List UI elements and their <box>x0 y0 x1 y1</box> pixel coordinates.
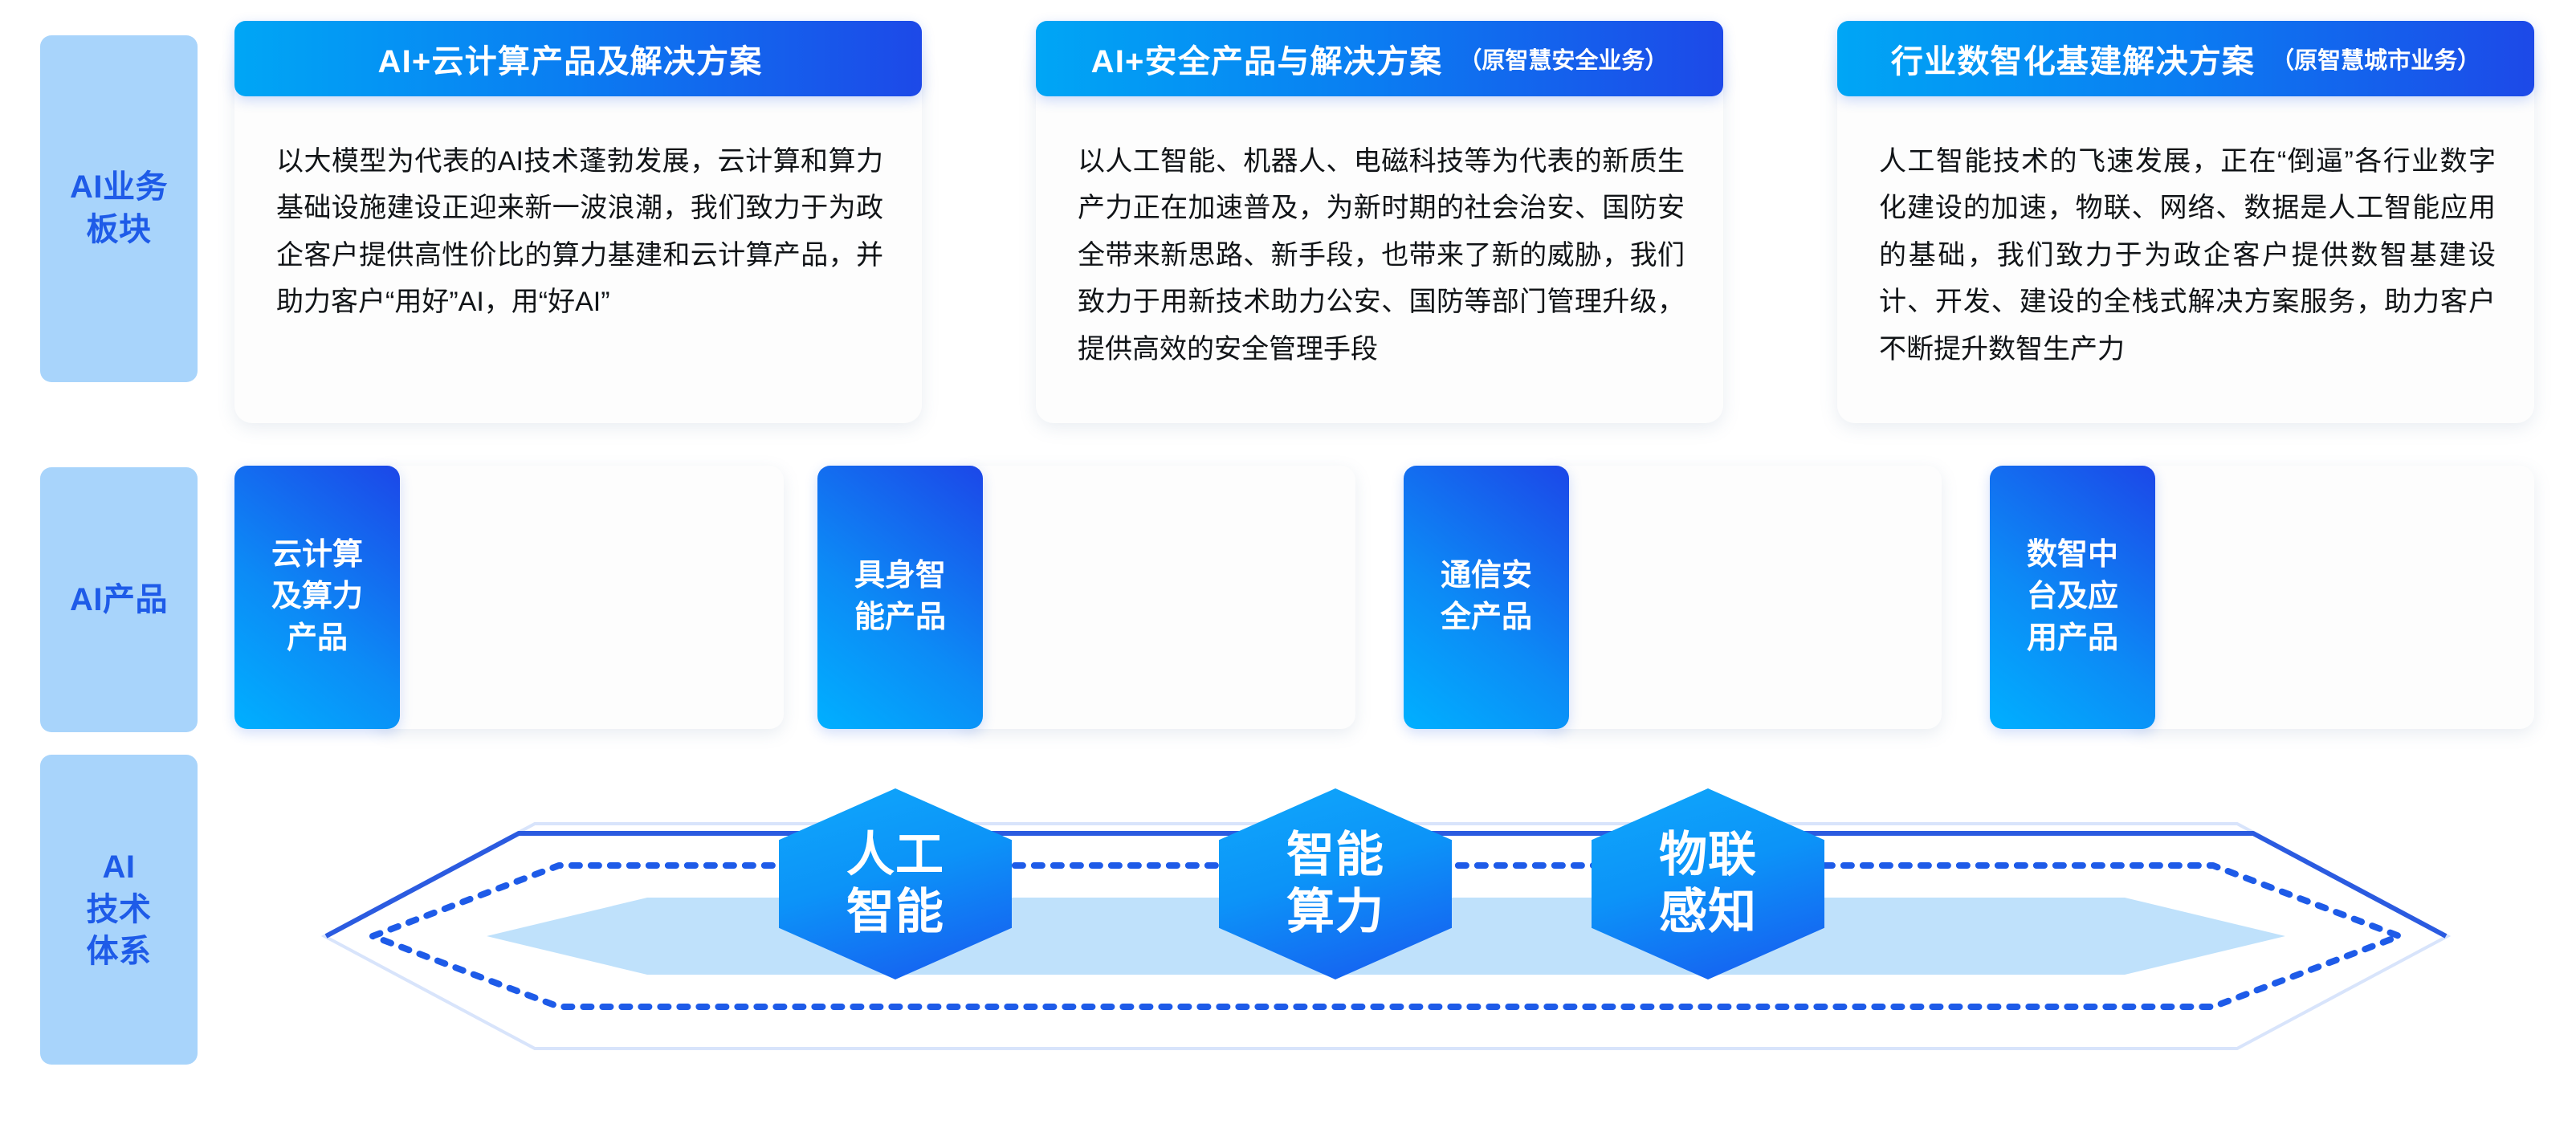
solution-card-body: 以大模型为代表的AI技术蓬勃发展，云计算和算力基础设施建设正迎来新一波浪潮，我们… <box>276 138 883 326</box>
product-panel <box>376 466 784 729</box>
solution-card-subtitle: （原智慧安全业务） <box>1458 42 1668 75</box>
solution-card-title: AI+安全产品与解决方案 <box>1091 35 1443 82</box>
product-group: 云计算 及算力 产品 AI超融合一体机 AI智算和应用平台 私有云计算系列产品 … <box>234 466 784 729</box>
solution-card: AI+云计算产品及解决方案 以大模型为代表的AI技术蓬勃发展，云计算和算力基础设… <box>234 48 922 423</box>
product-panel <box>2131 466 2534 729</box>
product-group: 数智中 台及应 用产品 城市信息模型平台 物联统一管理平台 融合通信平台 视频共… <box>1990 466 2534 729</box>
solution-card-title: AI+云计算产品及解决方案 <box>378 35 763 82</box>
solution-card-header: AI+云计算产品及解决方案 <box>234 21 922 96</box>
rail-label-text: AI 技术 体系 <box>87 846 152 973</box>
product-category-label: 数智中 台及应 用产品 <box>2027 535 2118 659</box>
tech-platform-area: 人工 智能 智能 算力 物联 感知 <box>198 747 2574 1124</box>
solution-card: 行业数智化基建解决方案 （原智慧城市业务） 人工智能技术的飞速发展，正在“倒逼”… <box>1837 48 2534 423</box>
product-category-tab[interactable]: 具身智 能产品 <box>817 466 983 729</box>
product-category-label: 云计算 及算力 产品 <box>271 535 363 659</box>
rail-label-text: AI业务 板块 <box>70 166 168 251</box>
rail-label-ai-tech: AI 技术 体系 <box>40 755 198 1065</box>
tech-hexagon-label: 物联 感知 <box>1659 827 1757 941</box>
product-panel <box>1545 466 1942 729</box>
diagram-canvas: AI业务 板块 AI产品 AI 技术 体系 AI+云计算产品及解决方案 以大模型… <box>0 0 2576 1124</box>
rail-label-ai-business: AI业务 板块 <box>40 35 198 382</box>
solution-card-body: 以人工智能、机器人、电磁科技等为代表的新质生产力正在加速普及，为新时期的社会治安… <box>1078 138 1685 373</box>
product-group: 具身智 能产品 电磁科技系列产品 安防机器人系列产品 无人机及低空应用 …… <box>817 466 1355 729</box>
product-category-label: 具身智 能产品 <box>854 556 946 638</box>
solution-card: AI+安全产品与解决方案 （原智慧安全业务） 以人工智能、机器人、电磁科技等为代… <box>1036 48 1723 423</box>
product-panel <box>959 466 1355 729</box>
tech-hexagon-label: 人工 智能 <box>846 827 944 941</box>
solution-card-body: 人工智能技术的飞速发展，正在“倒逼”各行业数字化建设的加速，物联、网络、数据是人… <box>1879 138 2496 373</box>
tech-hexagon-label: 智能 算力 <box>1286 827 1384 941</box>
rail-label-ai-product: AI产品 <box>40 467 198 732</box>
solution-card-header: 行业数智化基建解决方案 （原智慧城市业务） <box>1837 21 2534 96</box>
product-category-tab[interactable]: 通信安 全产品 <box>1404 466 1569 729</box>
product-group: 通信安 全产品 无线信号探测产品 无线信号定位产品 无线信号分析产品 公安大数据… <box>1404 466 1942 729</box>
solution-card-subtitle: （原智慧城市业务） <box>2271 42 2480 75</box>
product-category-tab[interactable]: 云计算 及算力 产品 <box>234 466 400 729</box>
solution-card-header: AI+安全产品与解决方案 （原智慧安全业务） <box>1036 21 1723 96</box>
rail-label-text: AI产品 <box>70 579 168 621</box>
product-category-label: 通信安 全产品 <box>1441 556 1532 638</box>
product-category-tab[interactable]: 数智中 台及应 用产品 <box>1990 466 2155 729</box>
solution-card-title: 行业数智化基建解决方案 <box>1891 35 2255 82</box>
